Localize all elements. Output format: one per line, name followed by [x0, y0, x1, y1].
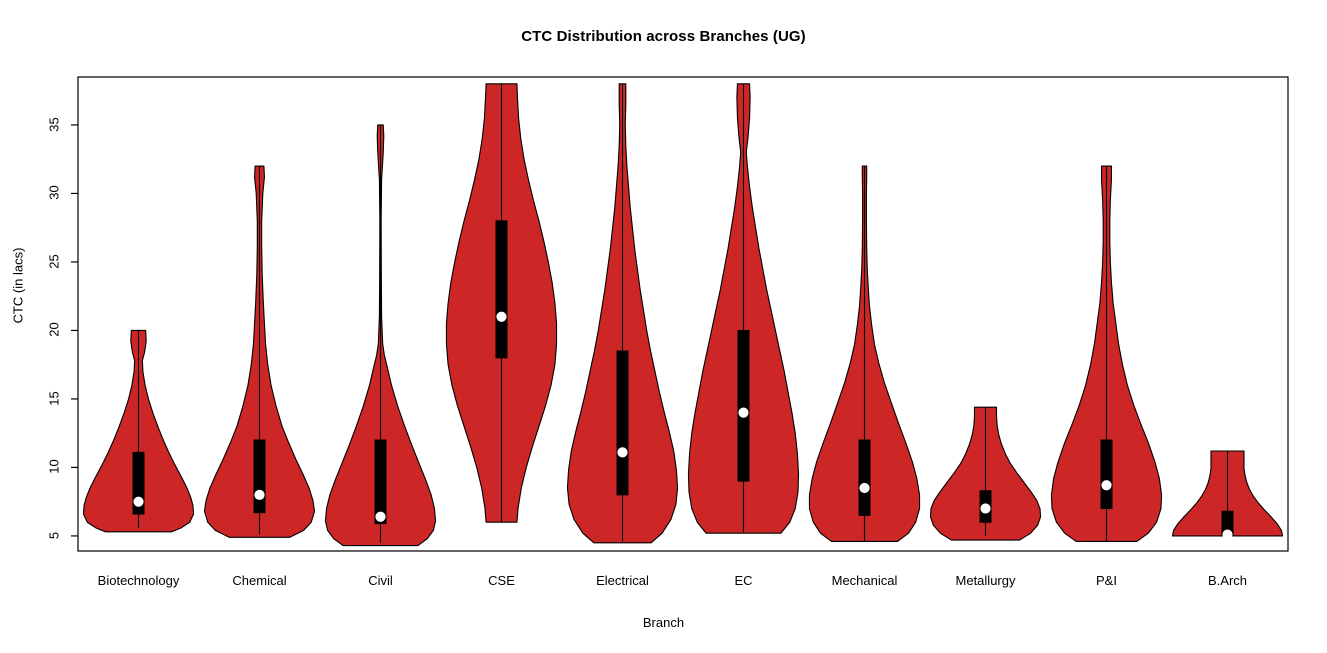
- x-tick-label-metallurgy: Metallurgy: [956, 573, 1016, 588]
- iqr-box: [859, 440, 870, 515]
- median-point: [739, 408, 748, 417]
- median-point: [981, 504, 990, 513]
- y-tick-label: 10: [47, 450, 62, 484]
- violin-biotechnology: [83, 330, 193, 531]
- x-tick-label-civil: Civil: [368, 573, 393, 588]
- violin-b-arch: [1172, 451, 1282, 539]
- violin-ec: [688, 84, 798, 533]
- x-tick-label-chemical: Chemical: [232, 573, 286, 588]
- x-tick-label-ec: EC: [734, 573, 752, 588]
- iqr-box: [375, 440, 386, 524]
- y-tick-label: 25: [47, 244, 62, 278]
- violin-civil: [325, 125, 435, 546]
- x-tick-label-biotechnology: Biotechnology: [98, 573, 180, 588]
- median-point: [1102, 481, 1111, 490]
- violin-chemical: [204, 166, 314, 537]
- violins-layer: [83, 84, 1282, 546]
- iqr-box: [617, 351, 628, 495]
- x-tick-label-b-arch: B.Arch: [1208, 573, 1247, 588]
- violin-electrical: [567, 84, 677, 543]
- y-tick-label: 5: [47, 518, 62, 552]
- y-tick-label: 15: [47, 381, 62, 415]
- x-tick-label-p-i: P&I: [1096, 573, 1117, 588]
- median-point: [134, 497, 143, 506]
- median-point: [255, 490, 264, 499]
- y-tick-label: 20: [47, 313, 62, 347]
- y-tick-label: 35: [47, 107, 62, 141]
- violin-p-i: [1051, 166, 1161, 541]
- iqr-box: [496, 221, 507, 358]
- violin-metallurgy: [930, 407, 1040, 540]
- y-tick-label: 30: [47, 176, 62, 210]
- x-tick-label-cse: CSE: [488, 573, 515, 588]
- x-tick-label-mechanical: Mechanical: [832, 573, 898, 588]
- iqr-box: [1101, 440, 1112, 508]
- x-tick-label-electrical: Electrical: [596, 573, 649, 588]
- violin-mechanical: [809, 166, 919, 541]
- violin-plot-figure: CTC Distribution across Branches (UG) CT…: [0, 0, 1327, 653]
- median-point: [1223, 530, 1232, 539]
- plot-canvas: [0, 0, 1327, 653]
- median-point: [860, 483, 869, 492]
- iqr-box: [738, 330, 749, 481]
- iqr-box: [254, 440, 265, 513]
- median-point: [497, 312, 506, 321]
- violin-cse: [446, 84, 556, 522]
- median-point: [618, 448, 627, 457]
- median-point: [376, 512, 385, 521]
